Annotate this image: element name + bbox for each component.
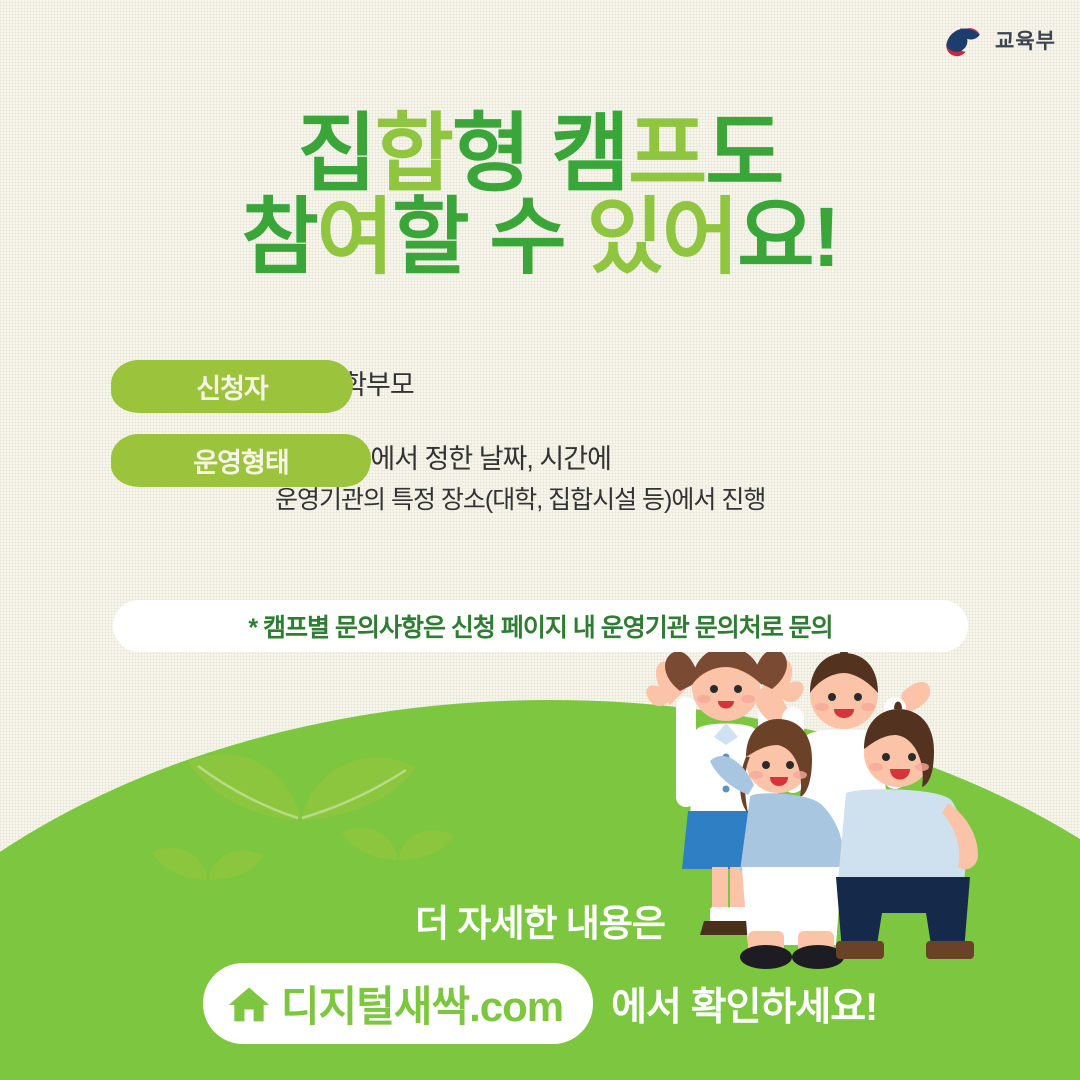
cta-tail-text: 에서 확인하세요!: [611, 976, 877, 1032]
page-title: 집합형캠프도 참여할수있어요!: [0, 112, 1080, 279]
title-char: 캠: [551, 112, 628, 196]
info-row: 운영형태 운영기관에서 정한 날짜, 시간에 운영기관의 특정 장소(대학, 집…: [0, 434, 1080, 520]
home-icon: [227, 982, 271, 1026]
title-char: 형: [452, 112, 529, 196]
title-char: 합: [375, 112, 452, 196]
info-line: 운영기관의 특정 장소(대학, 집합시설 등)에서 진행: [275, 481, 765, 521]
taegeuk-icon: [941, 18, 985, 62]
title-char: 참: [242, 196, 317, 278]
ministry-name: 교육부: [995, 25, 1056, 55]
title-char: 수: [489, 196, 564, 278]
badge-operation-type: 운영형태: [113, 434, 369, 486]
website-pill[interactable]: 디지털새싹.com: [203, 963, 593, 1044]
title-char: !: [812, 196, 838, 278]
poster-canvas: 교육부 집합형캠프도 참여할수있어요! 신청자 학생 / 학부모 운영형태 운영…: [0, 0, 1080, 1080]
badge-cell: 신청자: [0, 360, 275, 412]
badge-applicant: 신청자: [113, 360, 351, 412]
cta-row: 디지털새싹.com 에서 확인하세요!: [0, 963, 1080, 1044]
cta-section: 더 자세한 내용은 디지털새싹.com 에서 확인하세요!: [0, 893, 1080, 1044]
title-line-2: 참여할수있어요!: [0, 196, 1080, 278]
info-list: 신청자 학생 / 학부모 운영형태 운영기관에서 정한 날짜, 시간에 운영기관…: [0, 360, 1080, 542]
note-banner: * 캠프별 문의사항은 신청 페이지 내 운영기관 문의처로 문의: [113, 600, 968, 652]
title-char: 요: [737, 196, 812, 278]
title-char: 도: [705, 112, 782, 196]
title-char: 어: [662, 196, 737, 278]
title-char: 집: [298, 112, 375, 196]
ministry-logo: 교육부: [941, 18, 1056, 62]
info-row: 신청자 학생 / 학부모: [0, 360, 1080, 412]
title-char: 여: [317, 196, 392, 278]
title-char: 프: [628, 112, 705, 196]
cta-headline: 더 자세한 내용은: [0, 893, 1080, 947]
title-line-1: 집합형캠프도: [0, 112, 1080, 196]
badge-cell: 운영형태: [0, 434, 275, 486]
title-char: 할: [392, 196, 467, 278]
website-url: 디지털새싹.com: [281, 973, 563, 1034]
title-char: 있: [587, 196, 662, 278]
